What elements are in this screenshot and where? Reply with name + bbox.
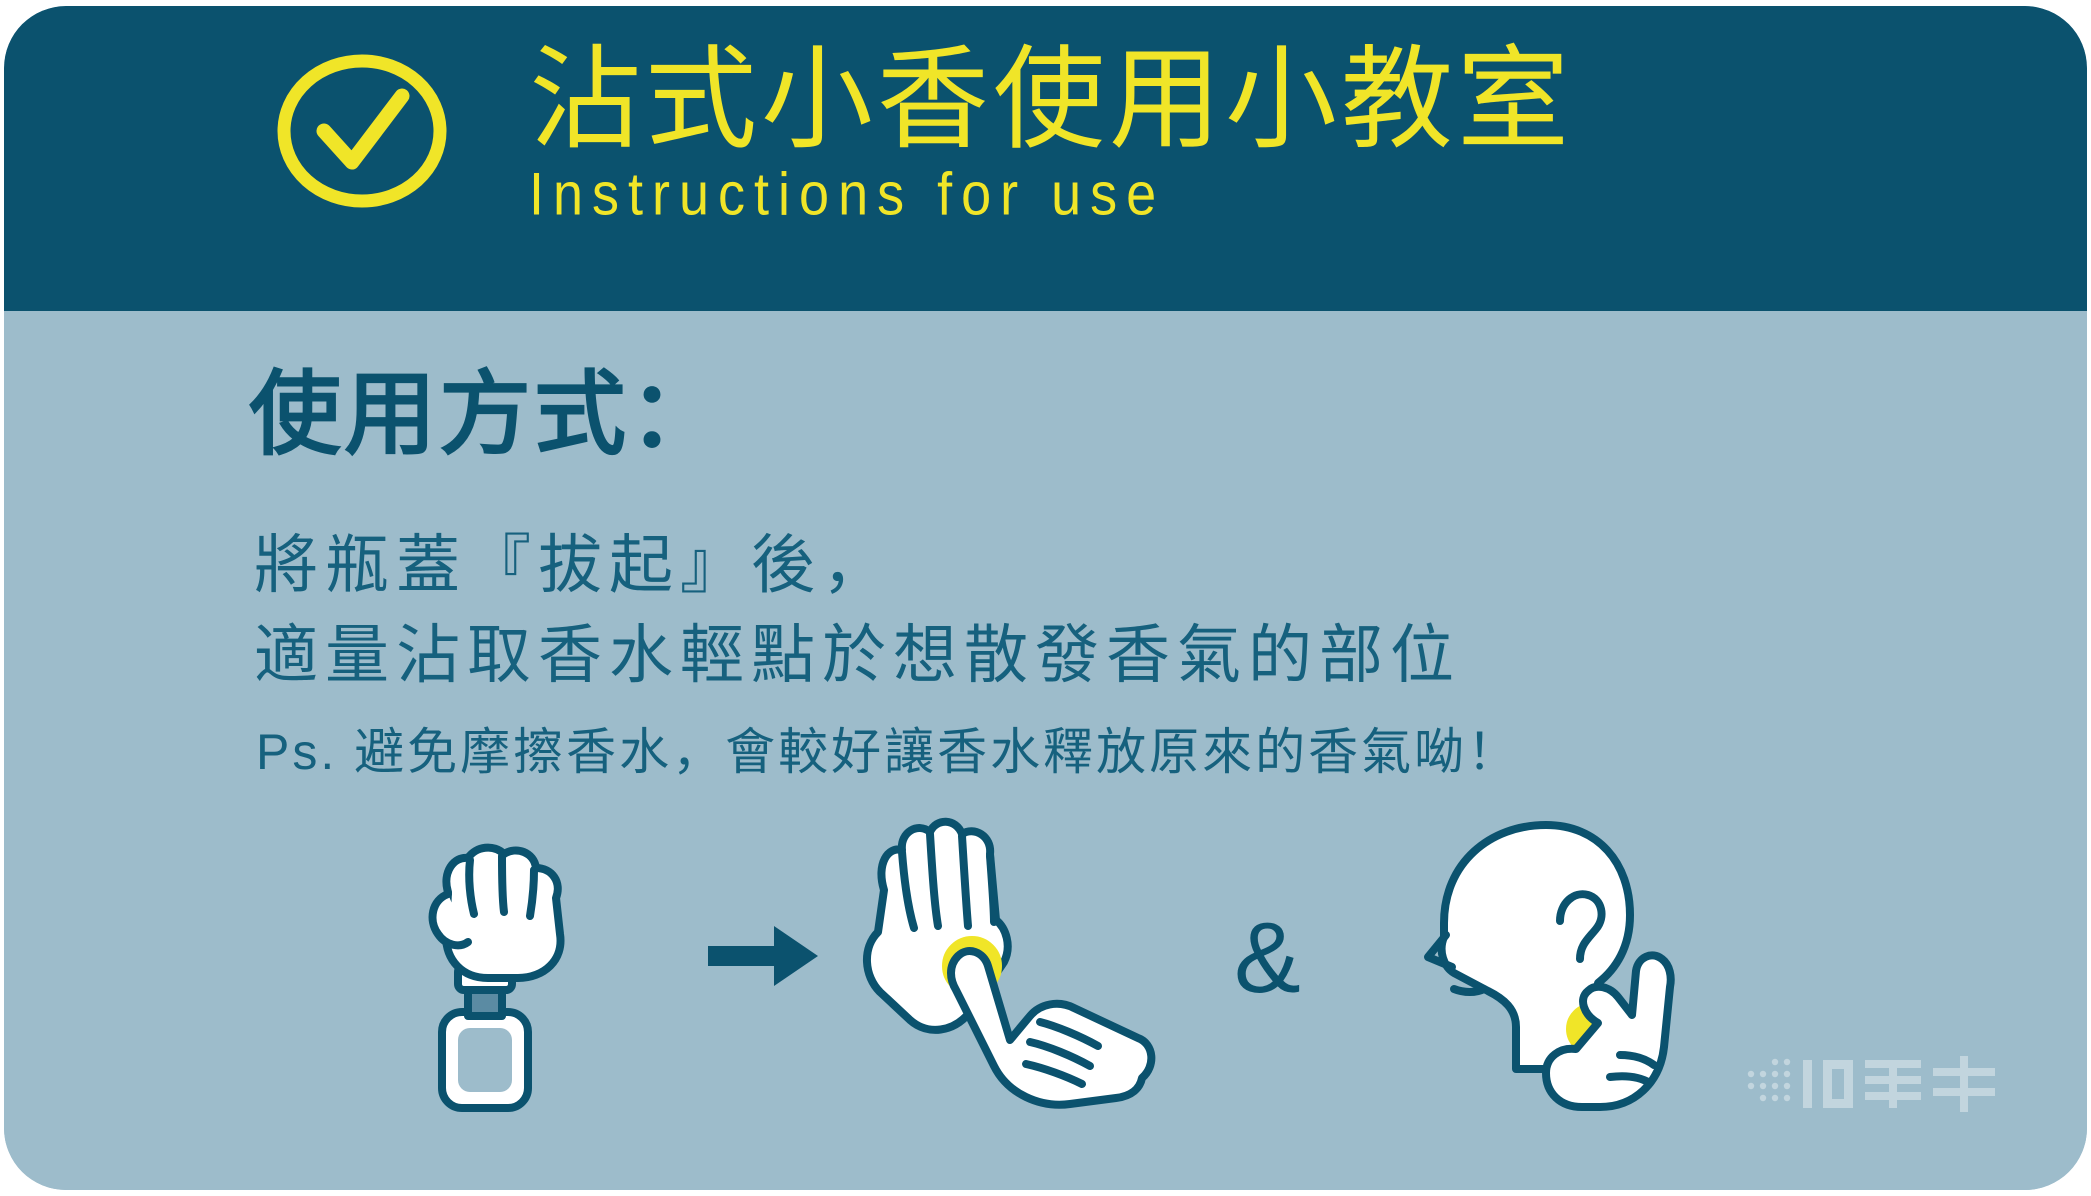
- usage-step-line-1: 將瓶蓋『拔起』後，: [254, 533, 893, 597]
- brand-watermark: [1745, 1052, 2005, 1116]
- illustration-row: &: [384, 816, 1724, 1136]
- page-subtitle: Instructions for use: [529, 164, 1573, 224]
- usage-step-line-2: 適量沾取香水輕點於想散發香氣的部位: [254, 623, 1461, 687]
- right-arrow-icon: [704, 916, 824, 1001]
- hand-dabbing-wrist-icon: [844, 816, 1164, 1121]
- usage-heading: 使用方式：: [249, 369, 724, 461]
- conjunction-label: &: [1234, 908, 1301, 1008]
- page-title: 沾式小香使用小教室: [529, 42, 1573, 158]
- usage-note: Ps. 避免摩擦香水，會較好讓香水釋放原來的香氣呦！: [256, 727, 1520, 777]
- card-body: 使用方式： 將瓶蓋『拔起』後， 適量沾取香水輕點於想散發香氣的部位 Ps. 避免…: [4, 311, 2087, 1190]
- check-circle-icon: [270, 51, 455, 211]
- card-header: 沾式小香使用小教室 Instructions for use: [4, 6, 2087, 311]
- instruction-card: 沾式小香使用小教室 Instructions for use 使用方式： 將瓶蓋…: [4, 6, 2087, 1190]
- hand-pulling-bottle-cap-icon: [384, 816, 634, 1121]
- header-text-block: 沾式小香使用小教室 Instructions for use: [529, 42, 1573, 218]
- finger-dabbing-neck-icon: [1384, 811, 1684, 1126]
